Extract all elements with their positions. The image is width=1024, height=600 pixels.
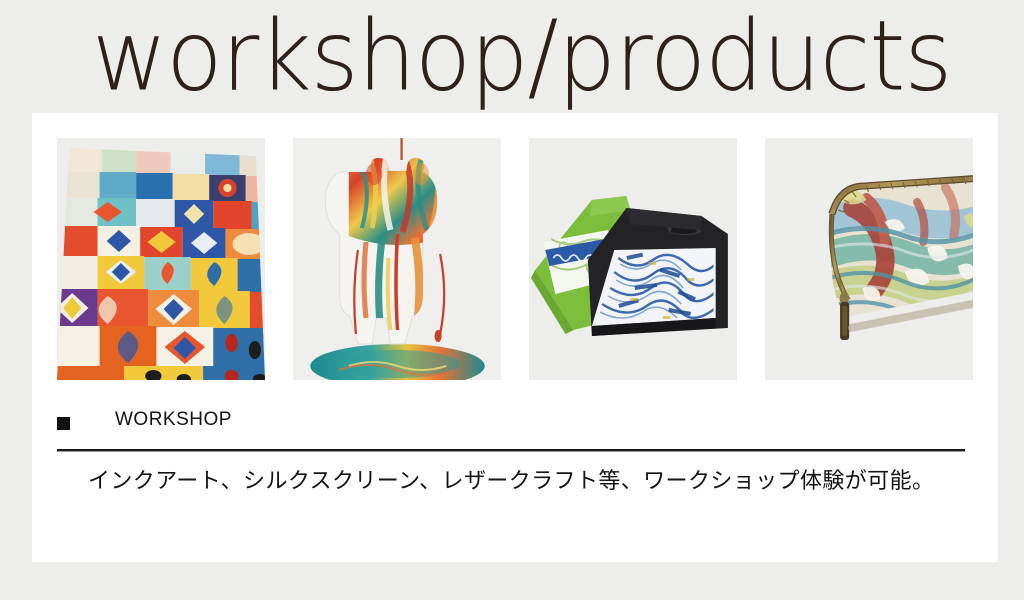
bullet-square-icon (57, 417, 70, 430)
page-title: workshop/products (92, 8, 951, 106)
leather-zip-wallet-photo (765, 138, 973, 380)
product-gallery (57, 138, 973, 380)
paint-poured-bear-figure-photo (293, 138, 501, 380)
content-panel: WORKSHOP インクアート、シルクスクリーン、レザークラフト等、ワークショッ… (32, 113, 998, 562)
gallery-item-paint-poured-bear[interactable] (293, 138, 501, 380)
section-divider (57, 449, 965, 452)
section-header: WORKSHOP (57, 406, 990, 440)
section-label: WORKSHOP (115, 409, 232, 431)
gallery-item-silkscreen-tshirts[interactable] (529, 138, 737, 380)
gallery-item-leather-zip-wallet[interactable] (765, 138, 973, 380)
workshop-description: インクアート、シルクスクリーン、レザークラフト等、ワークショップ体験が可能。 (88, 465, 988, 498)
silkscreen-tshirts-photo (529, 138, 737, 380)
gallery-item-ink-art-tiles[interactable] (57, 138, 265, 380)
ink-art-tiles-photo (57, 138, 265, 380)
